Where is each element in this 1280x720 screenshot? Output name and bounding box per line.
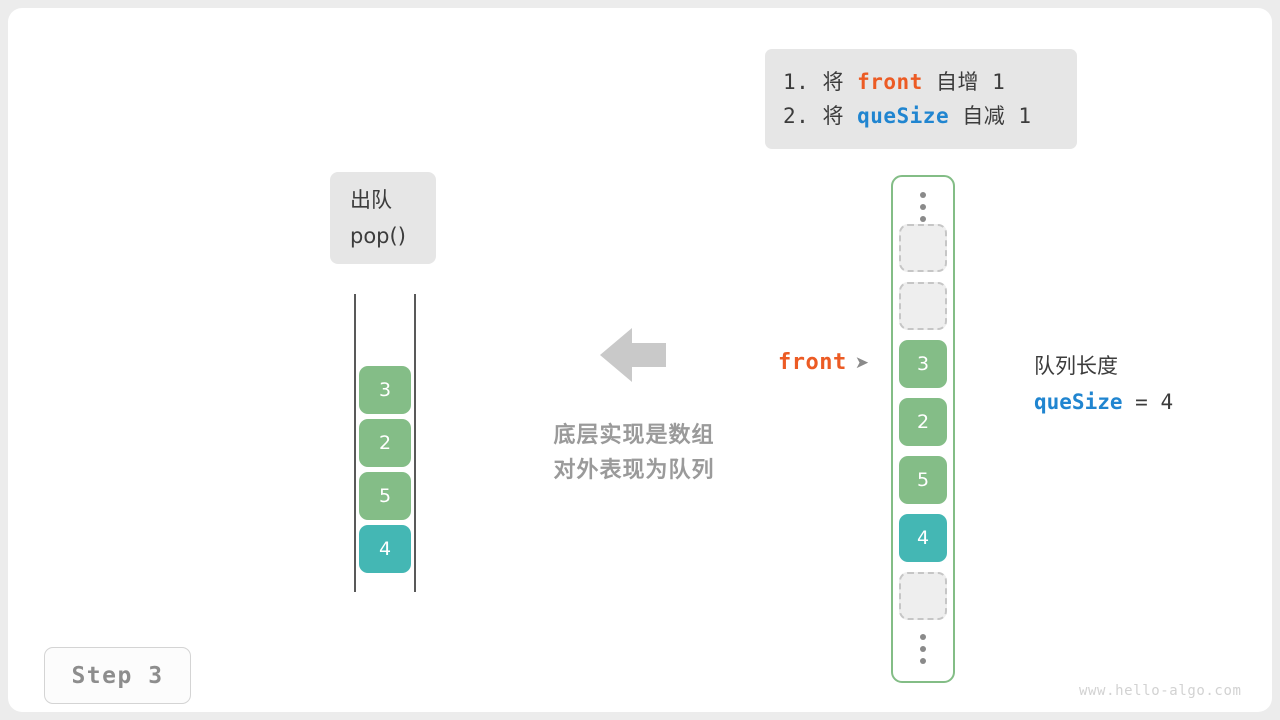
- steps-note-line-1-prefix: 将: [822, 70, 857, 94]
- queue-rail-right: [414, 294, 416, 592]
- queue-length-label: 队列长度: [1034, 348, 1173, 384]
- front-pointer: front ➤: [778, 350, 869, 375]
- ellipsis-dot: [920, 634, 926, 640]
- steps-note-line-2: 2. 将 queSize 自减 1: [783, 99, 1077, 133]
- queue-cell-value: 3: [379, 379, 391, 401]
- operation-method: pop(): [350, 218, 406, 254]
- queue-cell: 3: [359, 366, 411, 414]
- figure-canvas: 1. 将 front 自增 1 2. 将 queSize 自减 1 出队 pop…: [8, 8, 1272, 712]
- left-queue-view: 3 2 5 4: [354, 294, 416, 592]
- ellipsis-dot: [920, 204, 926, 210]
- center-caption-line-2: 对外表现为队列: [536, 453, 732, 488]
- queue-size-var: queSize: [1034, 390, 1123, 414]
- array-slot: 3: [899, 340, 947, 388]
- steps-note-line-1: 1. 将 front 自增 1: [783, 65, 1077, 99]
- queue-cell-value: 4: [379, 538, 391, 560]
- queue-rail-left: [354, 294, 356, 592]
- array-slot-value: 2: [917, 411, 929, 433]
- array-slot-empty: [899, 572, 947, 620]
- steps-note-line-2-code: queSize: [857, 104, 949, 128]
- operation-box: 出队 pop(): [330, 172, 436, 264]
- ellipsis-dot: [920, 646, 926, 652]
- array-slot-value: 5: [917, 469, 929, 491]
- array-slot: 4: [899, 514, 947, 562]
- step-badge-label: Step 3: [71, 663, 163, 689]
- ellipsis-dot: [920, 216, 926, 222]
- vertical-ellipsis-icon: [893, 634, 953, 664]
- steps-note-line-2-prefix: 将: [822, 104, 857, 128]
- steps-note-line-2-suffix: 自减 1: [949, 104, 1031, 128]
- array-slot: 5: [899, 456, 947, 504]
- vertical-ellipsis-icon: [893, 192, 953, 222]
- array-slot-value: 4: [917, 527, 929, 549]
- array-slot-empty: [899, 224, 947, 272]
- ellipsis-dot: [920, 192, 926, 198]
- array-container: 3 2 5 4: [891, 175, 955, 683]
- ellipsis-dot: [920, 658, 926, 664]
- array-slot: 2: [899, 398, 947, 446]
- array-slot-empty: [899, 282, 947, 330]
- array-slot-value: 3: [917, 353, 929, 375]
- queue-cell-value: 2: [379, 432, 391, 454]
- queue-cell: 4: [359, 525, 411, 573]
- operation-title: 出队: [350, 182, 392, 218]
- steps-note-line-1-index: 1.: [783, 70, 822, 94]
- arrow-left-icon: [600, 328, 666, 382]
- queue-cell-value: 5: [379, 485, 391, 507]
- queue-cell: 2: [359, 419, 411, 467]
- center-caption-line-1: 底层实现是数组: [536, 418, 732, 453]
- watermark: www.hello-algo.com: [1079, 683, 1242, 699]
- step-badge: Step 3: [44, 647, 191, 704]
- steps-note-line-1-suffix: 自增 1: [923, 70, 1005, 94]
- steps-note-line-2-index: 2.: [783, 104, 822, 128]
- steps-note-box: 1. 将 front 自增 1 2. 将 queSize 自减 1: [765, 49, 1077, 149]
- queue-size-value: 4: [1160, 390, 1173, 414]
- center-caption: 底层实现是数组 对外表现为队列: [536, 418, 732, 488]
- queue-size-equals: =: [1123, 390, 1161, 414]
- pointer-arrow-icon: ➤: [855, 354, 869, 371]
- queue-length-info: 队列长度 queSize = 4: [1034, 348, 1173, 420]
- steps-note-line-1-code: front: [857, 70, 923, 94]
- queue-size-expression: queSize = 4: [1034, 384, 1173, 420]
- front-pointer-label: front: [778, 350, 847, 375]
- queue-cell: 5: [359, 472, 411, 520]
